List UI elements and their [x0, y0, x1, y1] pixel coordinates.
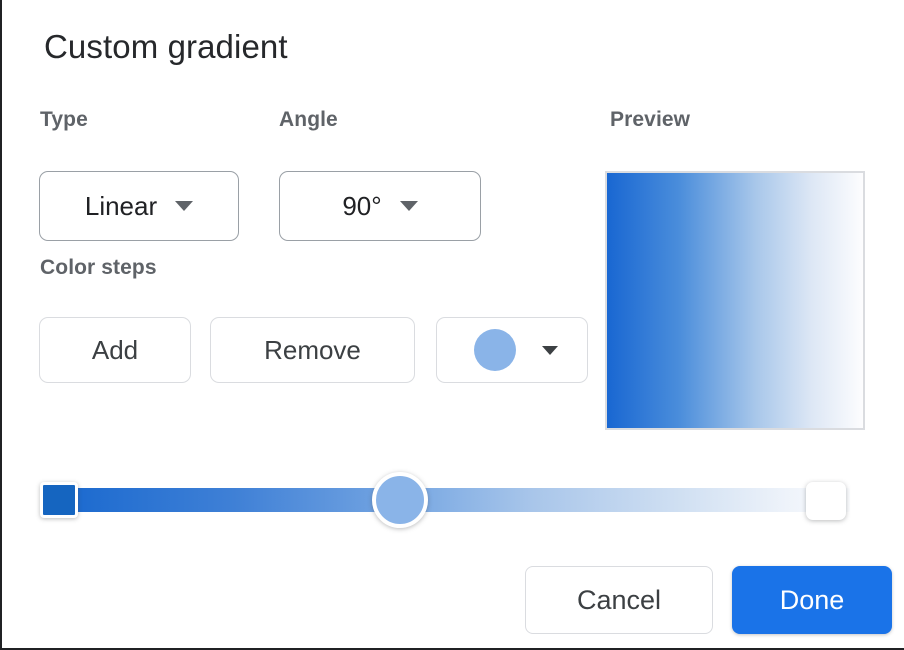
dialog-footer: Cancel Done — [2, 558, 904, 636]
cancel-button-label: Cancel — [577, 585, 661, 616]
color-steps-label: Color steps — [40, 256, 157, 280]
gradient-angle-value: 90° — [342, 191, 381, 222]
color-circle-icon — [474, 329, 516, 371]
remove-color-step-button[interactable]: Remove — [210, 317, 415, 383]
chevron-down-icon — [400, 201, 418, 211]
type-label: Type — [40, 108, 88, 132]
color-picker-button[interactable] — [436, 317, 588, 383]
add-color-step-button[interactable]: Add — [39, 317, 191, 383]
gradient-stop-start[interactable] — [40, 482, 78, 518]
done-button-label: Done — [780, 585, 845, 616]
gradient-preview-fill — [607, 173, 863, 428]
dialog-title: Custom gradient — [44, 28, 288, 66]
chevron-down-icon — [542, 346, 558, 355]
gradient-type-select[interactable]: Linear — [39, 171, 239, 241]
preview-label: Preview — [610, 108, 690, 132]
gradient-stop-middle[interactable] — [372, 472, 428, 528]
add-button-label: Add — [92, 335, 138, 366]
gradient-stops-slider[interactable] — [40, 460, 868, 540]
remove-button-label: Remove — [264, 335, 361, 366]
done-button[interactable]: Done — [732, 566, 892, 634]
angle-label: Angle — [279, 108, 338, 132]
cancel-button[interactable]: Cancel — [525, 566, 713, 634]
gradient-angle-select[interactable]: 90° — [279, 171, 481, 241]
gradient-preview — [605, 171, 865, 430]
chevron-down-icon — [175, 201, 193, 211]
gradient-type-value: Linear — [85, 191, 157, 222]
custom-gradient-dialog: Custom gradient Type Linear Angle 90° Co… — [0, 0, 904, 650]
gradient-stop-end[interactable] — [806, 482, 846, 520]
gradient-slider-track[interactable] — [60, 488, 850, 512]
